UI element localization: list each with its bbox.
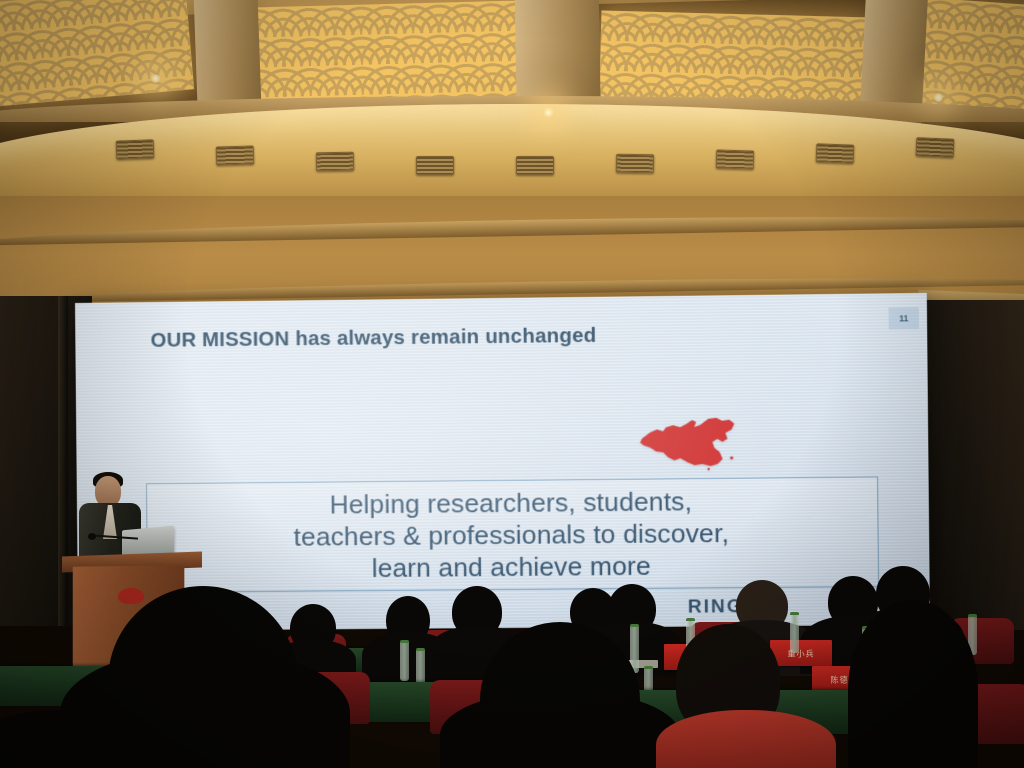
slide-title-emphasis: OUR MISSION bbox=[150, 327, 289, 351]
microphone-icon bbox=[88, 533, 96, 540]
slide-page-number: 11 bbox=[889, 307, 920, 329]
quote-line: teachers & professionals to discover, bbox=[294, 517, 730, 553]
quote-line: Helping researchers, students, bbox=[293, 484, 729, 520]
ceiling-spotlight bbox=[933, 92, 944, 103]
water-bottle bbox=[790, 612, 799, 653]
ceiling-vent bbox=[816, 143, 855, 163]
ceiling bbox=[0, 0, 1024, 212]
water-bottle bbox=[400, 640, 409, 681]
slide-title: OUR MISSION has always remain unchanged bbox=[150, 324, 596, 353]
conference-photo-scene: OUR MISSION has always remain unchanged … bbox=[0, 0, 1024, 768]
ceiling-vent bbox=[316, 152, 354, 172]
ceiling-spotlight bbox=[543, 107, 554, 118]
ceiling-vent bbox=[116, 139, 155, 159]
china-map-icon bbox=[630, 407, 751, 474]
foreground-red-coat bbox=[656, 710, 836, 768]
slide-title-rest: has always remain unchanged bbox=[289, 324, 596, 350]
ceiling-lattice-panel bbox=[0, 0, 194, 107]
ceiling-vent bbox=[916, 137, 955, 158]
table-name-card: 重小兵 bbox=[770, 640, 832, 666]
ceiling-vent bbox=[616, 154, 654, 174]
ceiling-vent bbox=[516, 156, 554, 175]
audience-area: 黄 重小兵 陈德和 bbox=[0, 560, 1024, 768]
ceiling-vent bbox=[416, 156, 454, 175]
wall-moulding bbox=[0, 210, 1024, 246]
ceiling-spotlight bbox=[150, 73, 161, 84]
foreground-person bbox=[848, 600, 978, 768]
water-bottle bbox=[416, 648, 425, 685]
ceiling-vent bbox=[716, 150, 754, 170]
ceiling-vent bbox=[216, 146, 254, 166]
